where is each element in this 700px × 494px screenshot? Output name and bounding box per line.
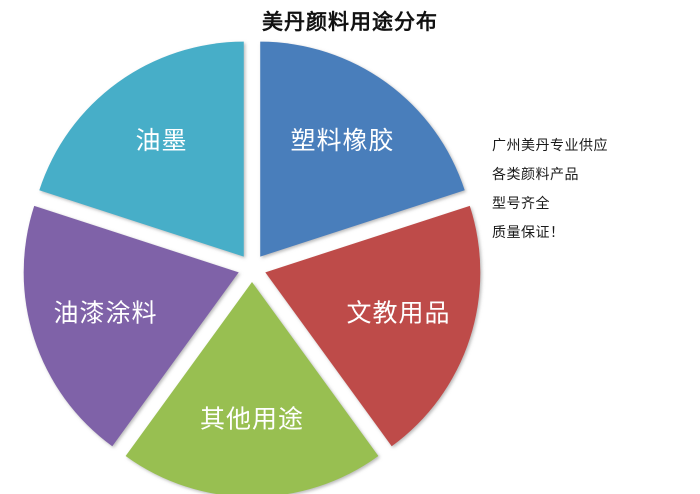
pie-slice-label: 其他用途 bbox=[200, 406, 304, 434]
side-note-text: 广州美丹专业供应 各类颜料产品 型号齐全 质量保证！ bbox=[492, 132, 692, 248]
side-note-line-4: 质量保证！ bbox=[492, 219, 692, 248]
side-note-line-3: 型号齐全 bbox=[492, 190, 692, 219]
pie-chart-infographic: 美丹颜料用途分布 塑料橡胶文教用品其他用途油漆涂料油墨 广州美丹专业供应 各类颜… bbox=[0, 0, 700, 494]
pie-slice-label: 油漆涂料 bbox=[54, 299, 158, 327]
side-note-line-1: 广州美丹专业供应 bbox=[492, 132, 692, 161]
pie-slice-label: 塑料橡胶 bbox=[291, 127, 395, 155]
pie-slice-label: 油墨 bbox=[135, 127, 187, 155]
pie-slice-label: 文教用品 bbox=[346, 299, 450, 327]
side-note-line-2: 各类颜料产品 bbox=[492, 161, 692, 190]
